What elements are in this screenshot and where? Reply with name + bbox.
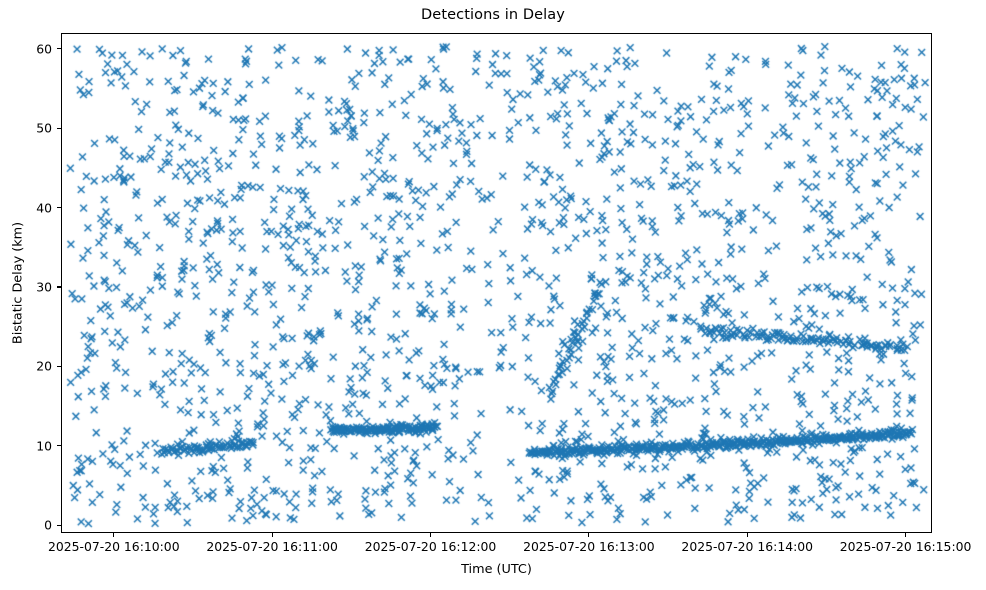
x-axis-label: Time (UTC) [61,562,932,577]
y-tick-mark [57,207,61,208]
x-tick-mark [113,533,114,537]
y-tick-label: 20 [36,359,52,374]
y-tick-mark [57,366,61,367]
y-tick-label: 50 [36,121,52,136]
x-tick-mark [905,533,906,537]
x-tick-mark [588,533,589,537]
x-tick-label: 2025-07-20 16:15:00 [840,539,972,554]
x-tick-mark [747,533,748,537]
y-tick-label: 30 [36,279,52,294]
y-tick-label: 40 [36,200,52,215]
y-tick-mark [57,286,61,287]
x-tick-label: 2025-07-20 16:11:00 [206,539,338,554]
matplotlib-figure: Detections in Delay 2025-07-20 16:10:002… [0,0,986,590]
plot-axes-area [61,33,932,533]
x-tick-label: 2025-07-20 16:12:00 [365,539,497,554]
x-tick-label: 2025-07-20 16:13:00 [523,539,655,554]
y-tick-label: 60 [36,41,52,56]
x-tick-label: 2025-07-20 16:10:00 [48,539,180,554]
y-tick-mark [57,48,61,49]
x-tick-label: 2025-07-20 16:14:00 [681,539,813,554]
scatter-plot-canvas [62,34,932,533]
x-tick-mark [430,533,431,537]
y-axis-label: Bistatic Delay (km) [11,222,26,344]
x-tick-mark [272,533,273,537]
y-tick-mark [57,525,61,526]
page-title: Detections in Delay [0,7,986,23]
y-tick-label: 0 [44,518,52,533]
y-tick-mark [57,128,61,129]
y-tick-label: 10 [36,438,52,453]
y-tick-mark [57,445,61,446]
